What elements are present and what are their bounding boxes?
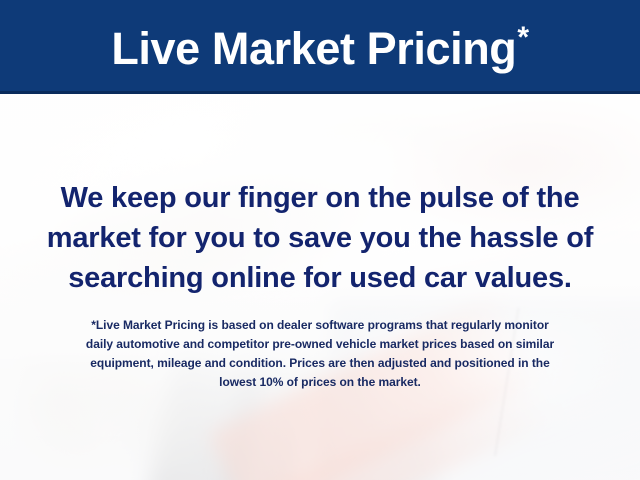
page-title: Live Market Pricing* [111,23,528,71]
lede-paragraph: We keep our finger on the pulse of the m… [0,178,640,298]
lede-line-3: searching online for used car values. [0,258,640,298]
lede-line-1: We keep our finger on the pulse of the [0,178,640,218]
disclaimer-line-1: *Live Market Pricing is based on dealer … [26,316,614,335]
disclaimer-line-3: equipment, mileage and condition. Prices… [26,354,614,373]
content-area: We keep our finger on the pulse of the m… [0,94,640,480]
page-title-footnote-marker: * [517,21,528,54]
disclaimer-line-2: daily automotive and competitor pre-owne… [26,335,614,354]
disclaimer-paragraph: *Live Market Pricing is based on dealer … [26,316,614,392]
lede-line-2: market for you to save you the hassle of [0,218,640,258]
disclaimer-line-4: lowest 10% of prices on the market. [26,373,614,392]
live-market-pricing-banner: Live Market Pricing* We keep our finger … [0,0,640,480]
header-band: Live Market Pricing* [0,0,640,91]
header-bottom-rule [0,91,640,94]
page-title-text: Live Market Pricing [111,23,516,74]
